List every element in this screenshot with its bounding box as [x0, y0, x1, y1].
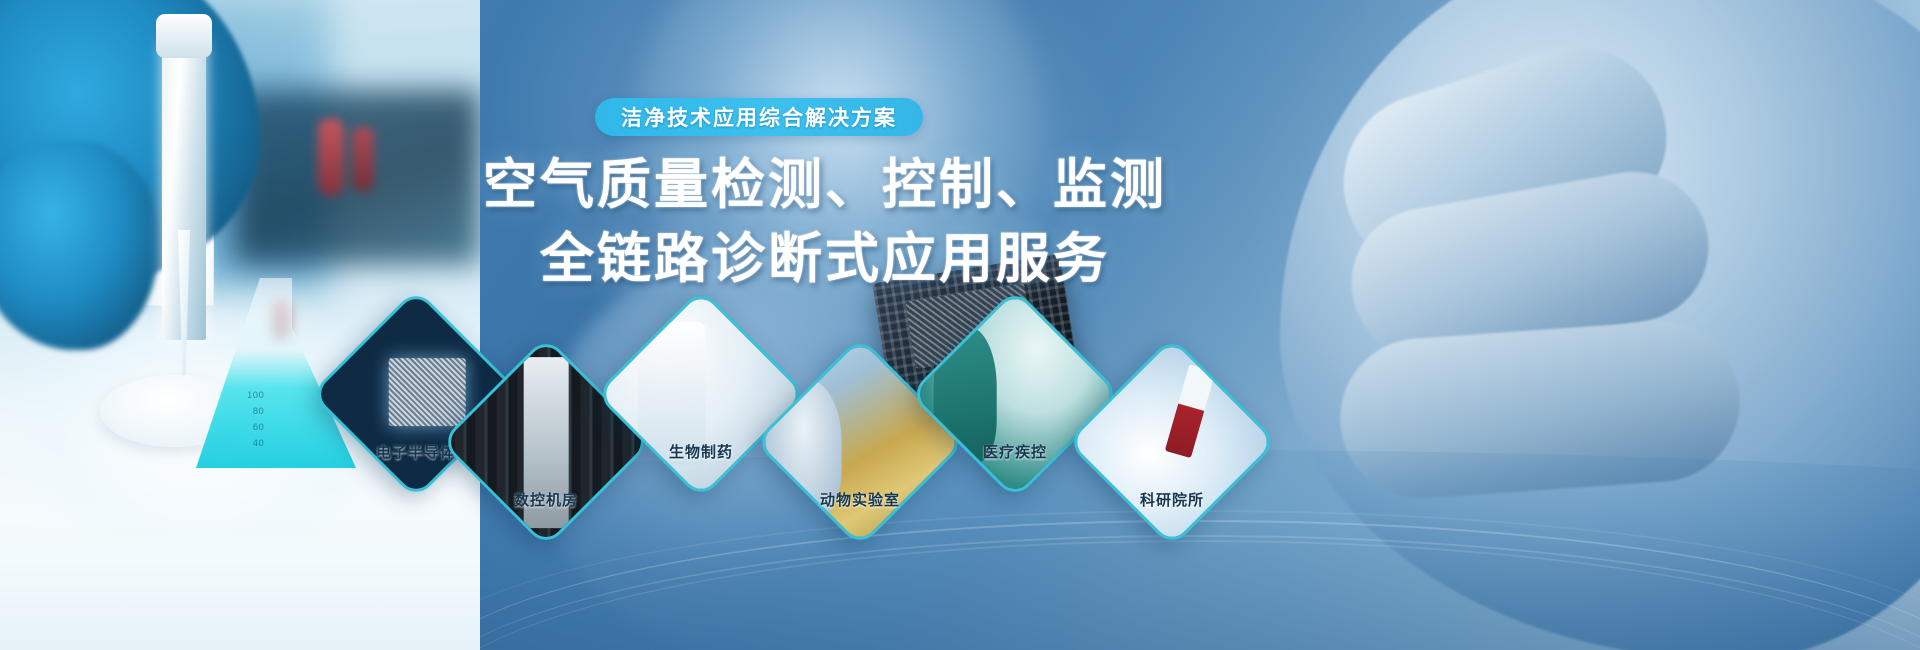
industry-card-biopharmaceutical[interactable]: 生物制药	[626, 319, 776, 469]
industry-card-label: 生物制药	[669, 441, 733, 462]
medical-disease-control-icon	[909, 288, 1121, 500]
industry-card-medical-disease-control[interactable]: 医疗疾控	[940, 319, 1090, 469]
industry-card-label: 电子半导体	[376, 441, 456, 462]
industry-card-research-institute[interactable]: 科研院所	[1097, 367, 1247, 517]
industry-card-label: 动物实验室	[820, 489, 900, 510]
card-diamond-frame	[909, 288, 1121, 500]
card-diamond-frame	[1066, 336, 1278, 548]
hero-banner: 100 80 60 40 洁净技术应用综合解决方案 空气质量检测、控制、监测 全…	[0, 0, 1920, 650]
research-institute-icon	[1066, 336, 1278, 548]
industry-card-row: 电子半导体 数控机房 生物制药 动物实验室 医疗疾控	[0, 0, 1920, 650]
card-diamond-frame	[595, 288, 807, 500]
industry-card-data-center[interactable]: 数控机房	[471, 367, 621, 517]
industry-card-label: 科研院所	[1140, 489, 1204, 510]
industry-card-animal-laboratory[interactable]: 动物实验室	[785, 367, 935, 517]
industry-card-label: 数控机房	[514, 489, 578, 510]
biopharmaceutical-icon	[595, 288, 807, 500]
industry-card-label: 医疗疾控	[983, 441, 1047, 462]
